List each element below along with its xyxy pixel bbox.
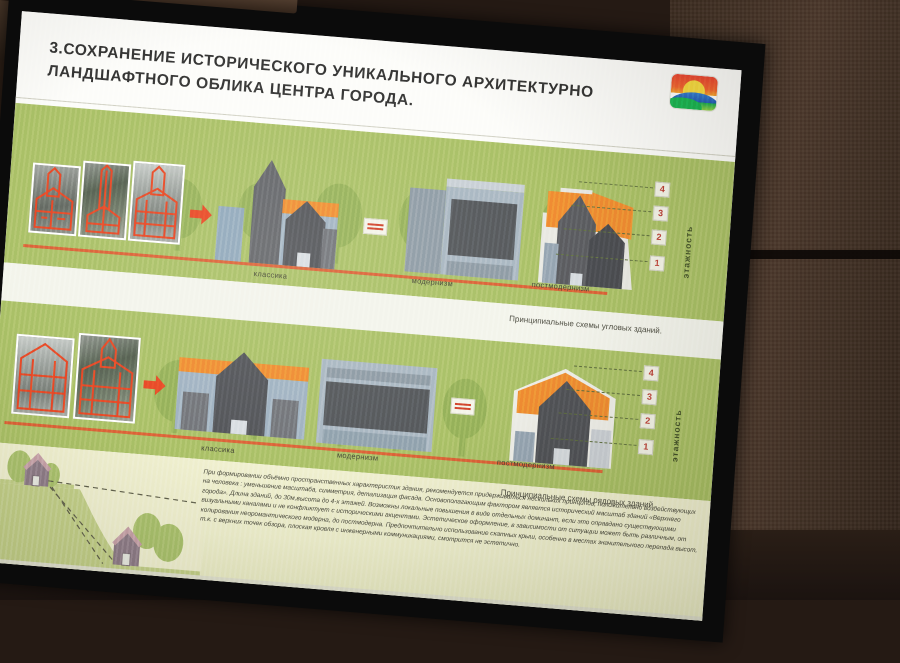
historic-photo-3 xyxy=(128,161,186,245)
red-analysis-overlay xyxy=(80,163,129,238)
historic-photo-4 xyxy=(11,334,75,419)
red-analysis-overlay xyxy=(13,336,72,416)
floor-number-1: 1 xyxy=(649,255,665,271)
floor-number-2: 2 xyxy=(651,229,667,245)
floor-number-3: 3 xyxy=(653,205,669,221)
red-arrow-icon xyxy=(141,372,169,398)
postmodern-row-building-silhouette xyxy=(499,360,632,470)
floor-number-1: 1 xyxy=(638,439,654,455)
red-analysis-overlay xyxy=(75,335,139,422)
red-analysis-overlay xyxy=(30,165,79,234)
red-arrow-icon xyxy=(187,201,215,227)
modernism-row-building-silhouette xyxy=(314,353,442,453)
floor-number-4: 4 xyxy=(643,365,659,381)
projection-screen: 3.СОХРАНЕНИЕ ИСТОРИЧЕСКОГО УНИКАЛЬНОГО А… xyxy=(0,0,767,663)
classic-row-building-silhouette xyxy=(172,333,312,440)
equals-badge-icon xyxy=(363,218,388,236)
floor-number-4: 4 xyxy=(654,182,670,198)
floor-number-3: 3 xyxy=(641,389,657,405)
presentation-slide: 3.СОХРАНЕНИЕ ИСТОРИЧЕСКОГО УНИКАЛЬНОГО А… xyxy=(0,11,742,621)
row1-caption: Принципиальные схемы угловых зданий. xyxy=(509,314,662,336)
historic-photo-2 xyxy=(78,161,131,241)
city-emblem-logo-icon xyxy=(669,72,719,112)
historic-photo-5 xyxy=(73,333,141,424)
historic-photo-1 xyxy=(28,162,81,236)
classic-building-silhouette xyxy=(213,150,350,270)
floor-number-2: 2 xyxy=(640,413,656,429)
sight-line-diagram xyxy=(0,442,208,580)
red-analysis-overlay xyxy=(130,163,183,243)
equals-badge-icon xyxy=(450,398,475,416)
modernism-building-silhouette xyxy=(402,165,535,281)
